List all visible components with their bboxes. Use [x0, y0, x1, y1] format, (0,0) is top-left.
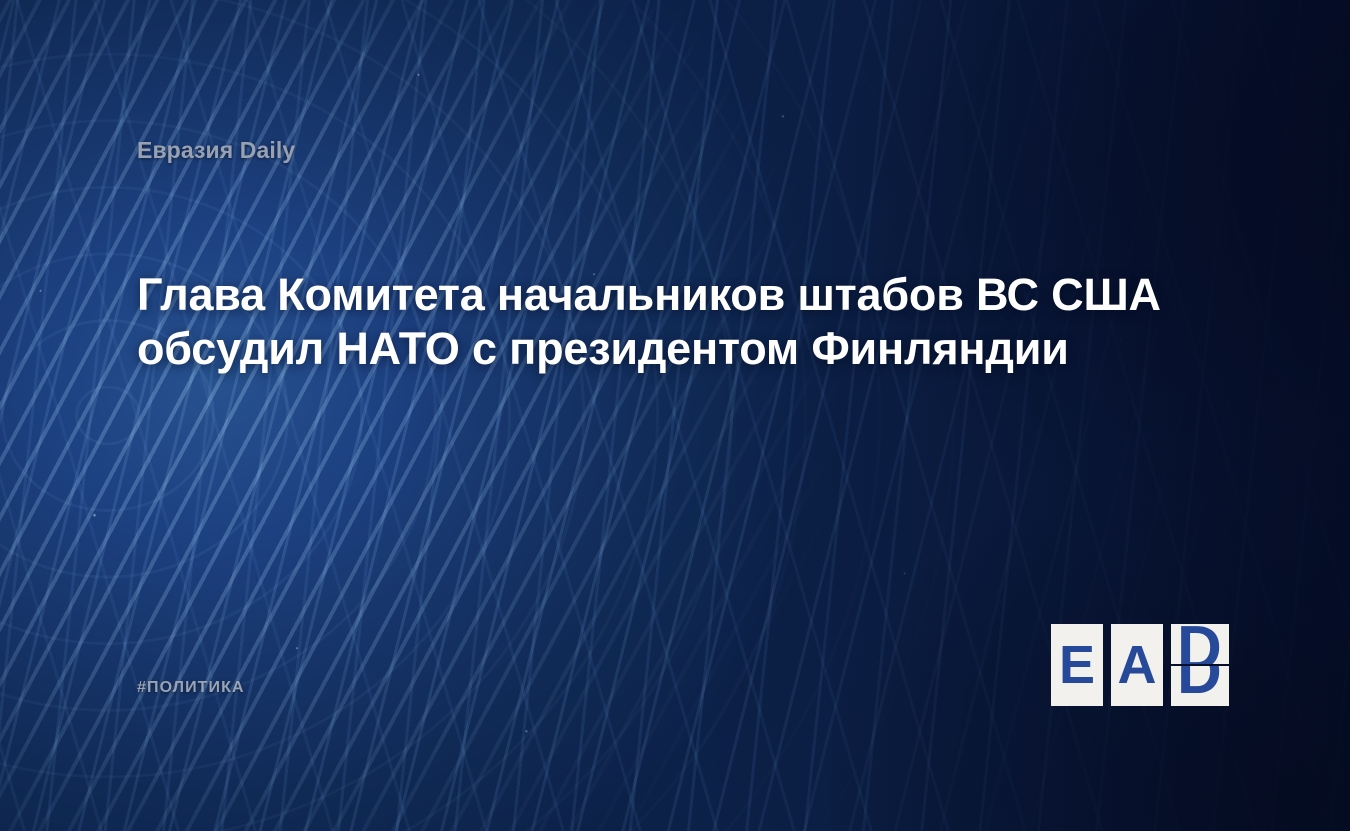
logo-tile-e: E	[1051, 624, 1103, 706]
headline: Глава Комитета начальников штабов ВС США…	[137, 268, 1262, 376]
share-card: Евразия Daily Глава Комитета начальников…	[0, 0, 1350, 831]
logo-tile-d-bottom: D	[1171, 666, 1229, 706]
category-tag: #ПОЛИТИКА	[137, 679, 245, 697]
logo-tile-d-top: D	[1171, 624, 1229, 664]
logo-tile-a: A	[1111, 624, 1163, 706]
logo-letter-d-top: D	[1177, 624, 1222, 664]
logo-letter-a: A	[1118, 638, 1157, 692]
logo-tile-d: D D	[1171, 624, 1229, 706]
card-content: Евразия Daily Глава Комитета начальников…	[0, 0, 1350, 831]
eadaily-logo: E A D D	[1051, 624, 1229, 706]
logo-letter-d-bottom: D	[1177, 666, 1222, 704]
logo-letter-e: E	[1059, 638, 1095, 692]
brand-name: Евразия Daily	[137, 137, 295, 164]
